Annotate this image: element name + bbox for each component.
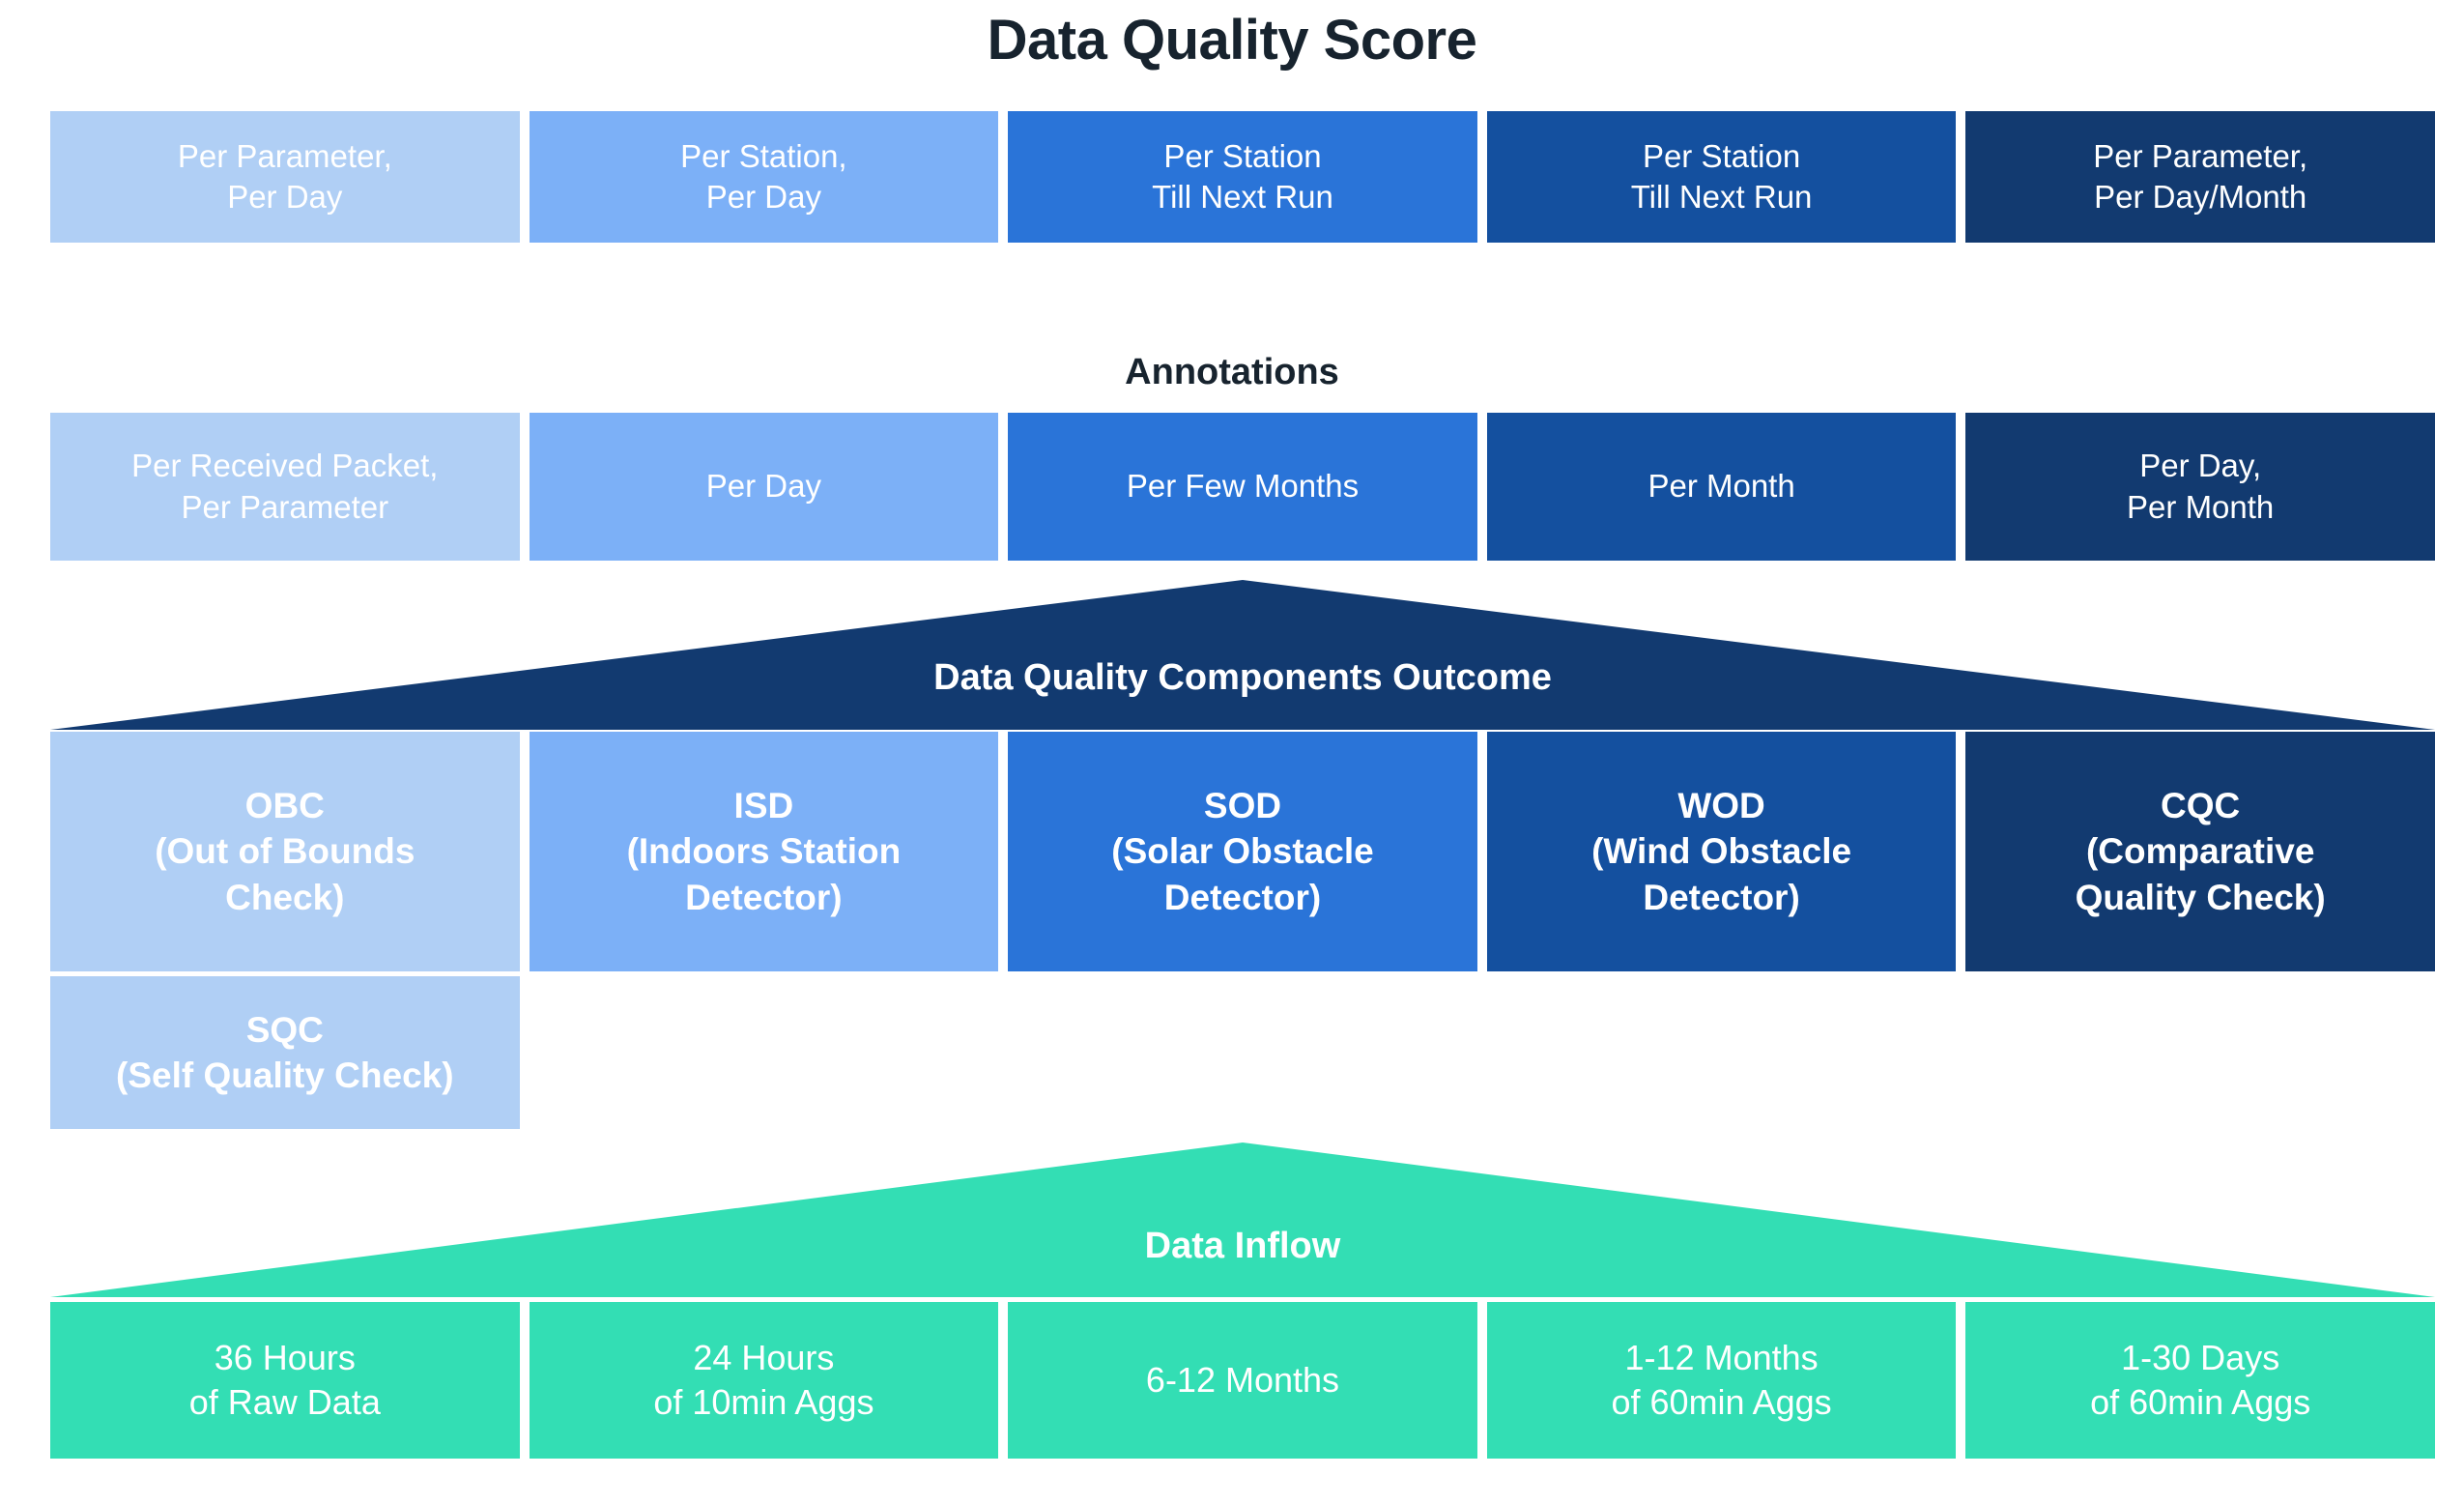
component-sqc-line2: (Self Quality Check) xyxy=(50,1053,520,1098)
components-outcome-banner: Data Quality Components Outcome xyxy=(50,580,2435,730)
scope-cell-4-line1: Per Station xyxy=(1487,136,1957,177)
scope-cell-2-line1: Per Station, xyxy=(530,136,999,177)
component-isd-line3: Detector) xyxy=(530,875,999,920)
scope-cell-3[interactable]: Per Station Till Next Run xyxy=(1008,111,1477,243)
inflow-cell-1-line2: of Raw Data xyxy=(50,1380,520,1425)
components-row: OBC (Out of Bounds Check) ISD (Indoors S… xyxy=(50,732,2435,971)
component-cell-cqc[interactable]: CQC (Comparative Quality Check) xyxy=(1965,732,2435,971)
inflow-cell-4-line1: 1-12 Months xyxy=(1487,1336,1957,1380)
component-cqc-line1: CQC xyxy=(1965,783,2435,828)
annotation-cell-2-line1: Per Day xyxy=(530,466,999,506)
component-cell-obc[interactable]: OBC (Out of Bounds Check) xyxy=(50,732,520,971)
component-isd-line1: ISD xyxy=(530,783,999,828)
annotation-cell-5-line2: Per Month xyxy=(1965,487,2435,528)
scope-cell-1[interactable]: Per Parameter, Per Day xyxy=(50,111,520,243)
scope-cell-4-line2: Till Next Run xyxy=(1487,177,1957,217)
inflow-cell-2-line2: of 10min Aggs xyxy=(530,1380,999,1425)
data-inflow-label: Data Inflow xyxy=(50,1224,2435,1268)
inflow-cell-3-line1: 6-12 Months xyxy=(1008,1358,1477,1403)
annotation-cell-3-line1: Per Few Months xyxy=(1008,466,1477,506)
component-wod-line1: WOD xyxy=(1487,783,1957,828)
component-obc-line2: (Out of Bounds xyxy=(50,828,520,874)
sqc-row-spacer-3 xyxy=(1008,976,1477,1129)
components-extra-row: SQC (Self Quality Check) xyxy=(50,976,2435,1129)
data-inflow-triangle-icon xyxy=(50,1142,2435,1297)
component-obc-line1: OBC xyxy=(50,783,520,828)
data-inflow-banner: Data Inflow xyxy=(50,1142,2435,1297)
scope-cell-3-line2: Till Next Run xyxy=(1008,177,1477,217)
inflow-cell-5-line2: of 60min Aggs xyxy=(1965,1380,2435,1425)
scope-cell-5[interactable]: Per Parameter, Per Day/Month xyxy=(1965,111,2435,243)
inflow-cell-2-line1: 24 Hours xyxy=(530,1336,999,1380)
annotation-cell-4-line1: Per Month xyxy=(1487,466,1957,506)
scope-cell-5-line2: Per Day/Month xyxy=(1965,177,2435,217)
annotation-cell-4[interactable]: Per Month xyxy=(1487,413,1957,561)
annotation-cell-1-line2: Per Parameter xyxy=(50,487,520,528)
inflow-cell-1[interactable]: 36 Hours of Raw Data xyxy=(50,1302,520,1459)
scope-cell-5-line1: Per Parameter, xyxy=(1965,136,2435,177)
annotation-cell-5-line1: Per Day, xyxy=(1965,446,2435,486)
component-cell-isd[interactable]: ISD (Indoors Station Detector) xyxy=(530,732,999,971)
annotation-cell-3[interactable]: Per Few Months xyxy=(1008,413,1477,561)
annotation-cell-5[interactable]: Per Day, Per Month xyxy=(1965,413,2435,561)
inflow-cell-4-line2: of 60min Aggs xyxy=(1487,1380,1957,1425)
component-sod-line2: (Solar Obstacle xyxy=(1008,828,1477,874)
component-cell-sqc[interactable]: SQC (Self Quality Check) xyxy=(50,976,520,1129)
annotation-cell-2[interactable]: Per Day xyxy=(530,413,999,561)
component-cqc-line3: Quality Check) xyxy=(1965,875,2435,920)
component-sqc-line1: SQC xyxy=(50,1007,520,1053)
inflow-cell-3[interactable]: 6-12 Months xyxy=(1008,1302,1477,1459)
sqc-row-spacer-4 xyxy=(1487,976,1957,1129)
component-sod-line3: Detector) xyxy=(1008,875,1477,920)
annotation-cell-1[interactable]: Per Received Packet, Per Parameter xyxy=(50,413,520,561)
inflow-cell-4[interactable]: 1-12 Months of 60min Aggs xyxy=(1487,1302,1957,1459)
component-cell-wod[interactable]: WOD (Wind Obstacle Detector) xyxy=(1487,732,1957,971)
scope-cell-3-line1: Per Station xyxy=(1008,136,1477,177)
page-title: Data Quality Score xyxy=(0,6,2464,75)
component-wod-line2: (Wind Obstacle xyxy=(1487,828,1957,874)
scope-cell-1-line1: Per Parameter, xyxy=(50,136,520,177)
inflow-cell-5-line1: 1-30 Days xyxy=(1965,1336,2435,1380)
components-outcome-label: Data Quality Components Outcome xyxy=(50,655,2435,700)
component-sod-line1: SOD xyxy=(1008,783,1477,828)
inflow-cell-5[interactable]: 1-30 Days of 60min Aggs xyxy=(1965,1302,2435,1459)
component-cqc-line2: (Comparative xyxy=(1965,828,2435,874)
diagram-canvas: Data Quality Score Per Parameter, Per Da… xyxy=(0,0,2464,1504)
component-obc-line3: Check) xyxy=(50,875,520,920)
component-isd-line2: (Indoors Station xyxy=(530,828,999,874)
component-wod-line3: Detector) xyxy=(1487,875,1957,920)
annotation-cell-1-line1: Per Received Packet, xyxy=(50,446,520,486)
scope-cell-2[interactable]: Per Station, Per Day xyxy=(530,111,999,243)
annotations-caption: Annotations xyxy=(0,350,2464,394)
scope-cell-2-line2: Per Day xyxy=(530,177,999,217)
scope-row: Per Parameter, Per Day Per Station, Per … xyxy=(50,111,2435,243)
inflow-cell-1-line1: 36 Hours xyxy=(50,1336,520,1380)
scope-cell-1-line2: Per Day xyxy=(50,177,520,217)
data-inflow-row: 36 Hours of Raw Data 24 Hours of 10min A… xyxy=(50,1302,2435,1459)
sqc-row-spacer-2 xyxy=(530,976,999,1129)
component-cell-sod[interactable]: SOD (Solar Obstacle Detector) xyxy=(1008,732,1477,971)
annotations-row: Per Received Packet, Per Parameter Per D… xyxy=(50,413,2435,561)
inflow-cell-2[interactable]: 24 Hours of 10min Aggs xyxy=(530,1302,999,1459)
scope-cell-4[interactable]: Per Station Till Next Run xyxy=(1487,111,1957,243)
sqc-row-spacer-5 xyxy=(1965,976,2435,1129)
